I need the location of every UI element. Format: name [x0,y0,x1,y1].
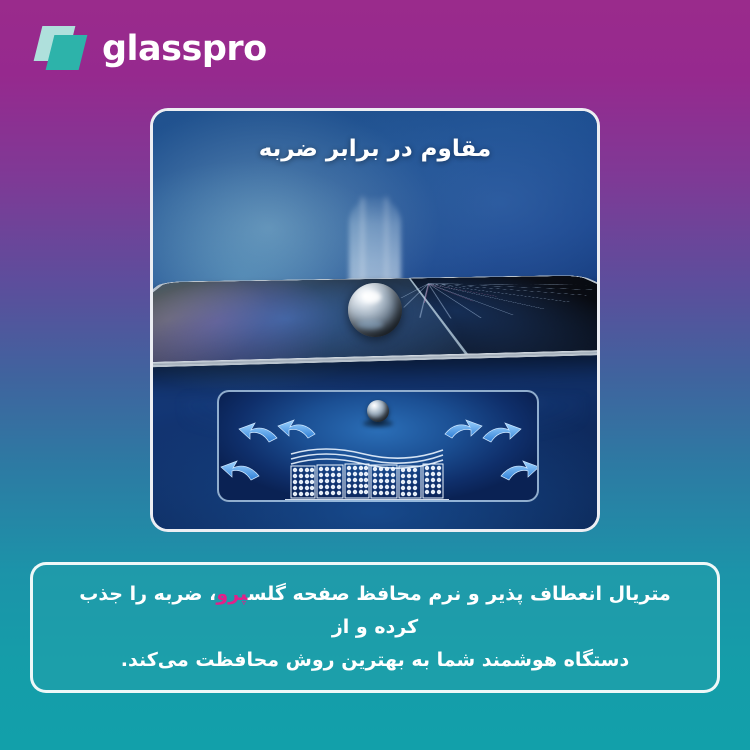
molecular-structure-icon [285,464,449,500]
card-title: مقاوم در برابر ضربه [153,136,597,162]
description-line2: دستگاه هوشمند شما به بهترین روش محافظت م… [121,649,629,671]
brand-name-white: گلس [248,583,286,605]
brand-logo-text: glasspro [102,32,267,67]
description-info-box: متریال انعطاف پذیر و نرم محافظ صفحه گلسپ… [30,562,720,693]
brand-header: glasspro [38,26,267,72]
description-line1-part1: متریال انعطاف پذیر و نرم محافظ صفحه [286,583,671,605]
flexible-layer-waves [291,449,443,468]
description-text: متریال انعطاف پذیر و نرم محافظ صفحه گلسپ… [59,578,691,678]
brand-name-accent: پرو [216,583,247,605]
diagram-steel-ball-icon [367,400,389,422]
impact-crack-lines-icon [388,280,600,322]
product-image-card: مقاوم در برابر ضربه [150,108,600,532]
impact-absorption-diagram [217,390,539,502]
steel-ball-icon [348,283,402,337]
logo-sheet-front-icon [46,35,88,70]
glasspro-sheets-logo-icon [38,26,88,72]
energy-dispersion-arrow-right [445,420,539,480]
